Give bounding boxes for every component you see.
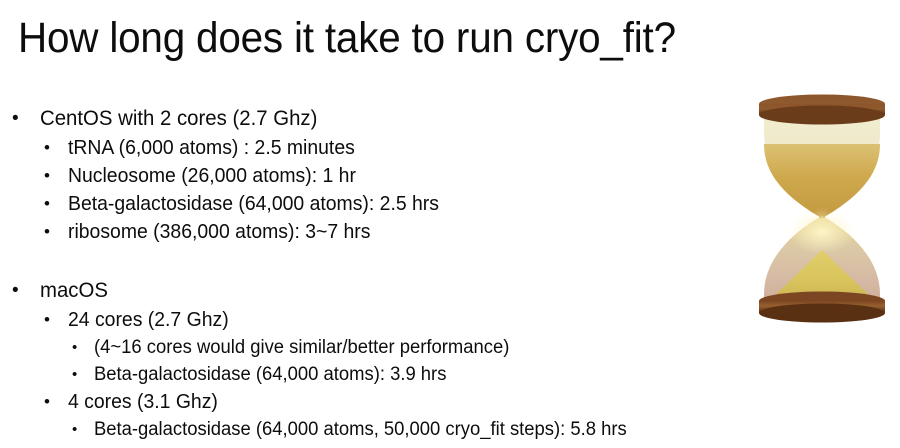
bullet-point-icon: • (72, 361, 77, 388)
list-item-label: ribosome (386,000 atoms): 3~7 hrs (68, 218, 370, 246)
list-item: • 4 cores (3.1 Ghz) (44, 388, 740, 416)
list-item-label: 4 cores (3.1 Ghz) (68, 388, 218, 416)
bullet-point-icon: • (72, 416, 77, 443)
bullet-point-icon: • (12, 104, 19, 134)
list-item-label: macOS (40, 276, 108, 306)
list-group-spacer (0, 246, 740, 276)
bullet-list: • CentOS with 2 cores (2.7 Ghz) • tRNA (… (0, 104, 740, 443)
bullet-point-icon: • (44, 388, 50, 416)
bullet-point-icon: • (44, 134, 50, 162)
list-item-label: 24 cores (2.7 Ghz) (68, 306, 229, 334)
bullet-point-icon: • (44, 162, 50, 190)
list-item-label: Beta-galactosidase (64,000 atoms): 2.5 h… (68, 190, 439, 218)
list-item: • Beta-galactosidase (64,000 atoms, 50,0… (72, 416, 740, 443)
list-item: • (4~16 cores would give similar/better … (72, 334, 740, 361)
hourglass-icon (752, 92, 892, 324)
list-item: • Beta-galactosidase (64,000 atoms): 3.9… (72, 361, 740, 388)
list-item: • Nucleosome (26,000 atoms): 1 hr (44, 162, 740, 190)
list-item: • Beta-galactosidase (64,000 atoms): 2.5… (44, 190, 740, 218)
list-item-label: Beta-galactosidase (64,000 atoms): 3.9 h… (94, 361, 446, 388)
bullet-point-icon: • (44, 190, 50, 218)
list-item: • 24 cores (2.7 Ghz) (44, 306, 740, 334)
slide-canvas: How long does it take to run cryo_fit? •… (0, 0, 900, 448)
list-item-label: CentOS with 2 cores (2.7 Ghz) (40, 104, 317, 134)
bullet-point-icon: • (44, 218, 50, 246)
page-title: How long does it take to run cryo_fit? (18, 14, 695, 62)
list-item: • macOS (12, 276, 740, 306)
list-item-label: (4~16 cores would give similar/better pe… (94, 334, 509, 361)
list-item: • tRNA (6,000 atoms) : 2.5 minutes (44, 134, 740, 162)
list-item: • ribosome (386,000 atoms): 3~7 hrs (44, 218, 740, 246)
bullet-point-icon: • (12, 276, 19, 306)
list-item-label: tRNA (6,000 atoms) : 2.5 minutes (68, 134, 355, 162)
bullet-point-icon: • (44, 306, 50, 334)
list-item: • CentOS with 2 cores (2.7 Ghz) (12, 104, 740, 134)
list-item-label: Nucleosome (26,000 atoms): 1 hr (68, 162, 356, 190)
list-item-label: Beta-galactosidase (64,000 atoms, 50,000… (94, 416, 627, 443)
bullet-point-icon: • (72, 334, 77, 361)
